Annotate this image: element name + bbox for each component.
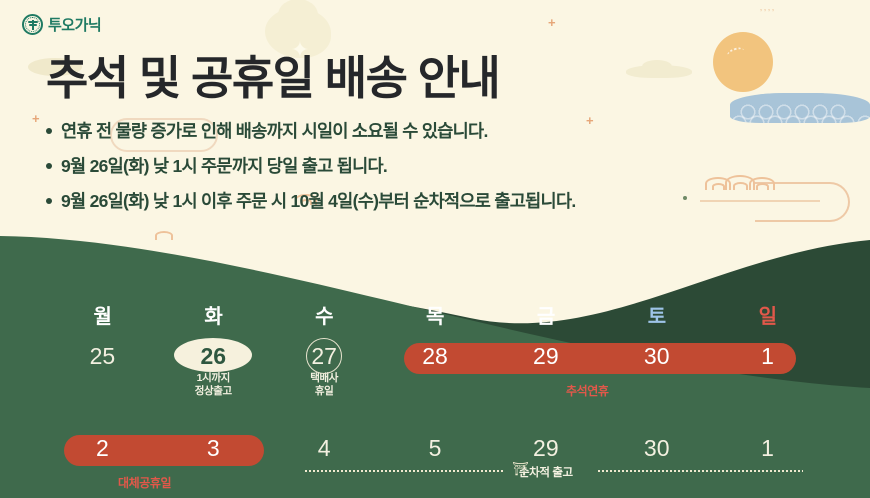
calendar-day-cell: 26 1시까지 정상출고 bbox=[158, 334, 269, 410]
day-number: 4 bbox=[318, 435, 331, 461]
day-number: 2 bbox=[96, 435, 109, 461]
wave-pattern-cloud-icon bbox=[730, 93, 870, 123]
day-note: 택배사 휴일 bbox=[310, 372, 338, 397]
dash-decor: ‚‚‚‚ bbox=[760, 2, 776, 12]
calendar-day-cell: 4 bbox=[269, 426, 380, 498]
brand-logo: 투오가닉 bbox=[22, 14, 101, 35]
calendar-day-cell: 27 택배사 휴일 bbox=[269, 334, 380, 410]
plus-sparkle-icon: + bbox=[586, 114, 594, 127]
day-header-fri: 금 bbox=[490, 300, 601, 335]
notice-item: 9월 26일(화) 낮 1시 이후 주문 시 10월 4일(수)부터 순차적으로… bbox=[46, 183, 576, 218]
calendar-day-cell: 3 bbox=[158, 426, 269, 498]
calendar-day-cell: 2 bbox=[47, 426, 158, 498]
day-number: 25 bbox=[90, 343, 116, 369]
calendar-week-1: 추석연휴 25 26 1시까지 정상출고 27 bbox=[0, 334, 870, 410]
notice-text: 9월 26일(화) 낮 1시 이후 주문 시 10월 4일(수)부터 순차적으로… bbox=[61, 188, 576, 213]
cloud-icon bbox=[626, 65, 692, 78]
notice-text: 연휴 전 물량 증가로 인해 배송까지 시일이 소요될 수 있습니다. bbox=[61, 118, 488, 143]
day-number: 26 bbox=[200, 343, 226, 369]
day-number: 29 bbox=[533, 435, 559, 461]
day-number: 3 bbox=[207, 435, 220, 461]
day-header-thu: 목 bbox=[380, 300, 491, 335]
bullet-dot-icon bbox=[46, 128, 52, 134]
page-title: 추석 및 공휴일 배송 안내 bbox=[46, 42, 499, 108]
bullet-dot-icon bbox=[46, 163, 52, 169]
notice-list: 연휴 전 물량 증가로 인해 배송까지 시일이 소요될 수 있습니다. 9월 2… bbox=[46, 113, 576, 218]
moon-texture-decor bbox=[726, 45, 747, 61]
plus-sparkle-icon: + bbox=[548, 16, 556, 29]
day-header-wed: 수 bbox=[269, 300, 380, 335]
day-number: 30 bbox=[644, 435, 670, 461]
day-header-tue: 화 bbox=[158, 300, 269, 335]
full-moon-icon bbox=[713, 32, 773, 92]
day-header-sat: 토 bbox=[601, 300, 712, 335]
day-number: 29 bbox=[533, 343, 559, 369]
plus-sparkle-icon: + bbox=[32, 112, 40, 125]
notice-item: 9월 26일(화) 낮 1시 주문까지 당일 출고 됩니다. bbox=[46, 148, 576, 183]
calendar-day-cell: 30 bbox=[601, 426, 712, 498]
calendar-day-cell: 5 bbox=[380, 426, 491, 498]
calendar-day-cell: 29 bbox=[490, 334, 601, 410]
tree-emblem-icon bbox=[22, 14, 43, 35]
day-number: 1 bbox=[761, 435, 774, 461]
day-header-mon: 월 bbox=[47, 300, 158, 335]
notice-item: 연휴 전 물량 증가로 인해 배송까지 시일이 소요될 수 있습니다. bbox=[46, 113, 576, 148]
calendar-day-cell: 1 bbox=[712, 334, 823, 410]
day-number: 28 bbox=[422, 343, 448, 369]
calendar-day-cell: 28 bbox=[380, 334, 491, 410]
calendar-week-2: 대체공휴일 ⛩ 2 3 4 5 29 순차적 bbox=[0, 426, 870, 498]
wave-pattern-overlay bbox=[730, 93, 870, 123]
straight-line-decor bbox=[700, 200, 820, 202]
calendar-day-cell: 29 순차적 출고 bbox=[490, 426, 601, 498]
calendar-day-cell: 30 bbox=[601, 334, 712, 410]
day-number: 1 bbox=[761, 343, 774, 369]
calendar-day-cell: 1 bbox=[712, 426, 823, 498]
notice-text: 9월 26일(화) 낮 1시 주문까지 당일 출고 됩니다. bbox=[61, 153, 387, 178]
day-number: 27 bbox=[311, 343, 337, 369]
day-note: 1시까지 정상출고 bbox=[195, 372, 232, 397]
calendar-day-cell: 25 bbox=[47, 334, 158, 410]
holiday-delivery-banner: ✦ + + + ‚‚‚‚ 투오가닉 추석 및 공휴일 배송 안내 연 bbox=[0, 0, 870, 498]
dot-decor bbox=[683, 196, 687, 200]
day-number: 5 bbox=[429, 435, 442, 461]
brand-name: 투오가닉 bbox=[48, 14, 101, 35]
day-number: 30 bbox=[644, 343, 670, 369]
bullet-dot-icon bbox=[46, 198, 52, 204]
calendar-day-headers: 월 화 수 목 금 토 일 bbox=[47, 300, 823, 335]
day-note: 순차적 출고 bbox=[519, 467, 573, 480]
day-header-sun: 일 bbox=[712, 300, 823, 335]
holiday-calendar: 월 화 수 목 금 토 일 추석연휴 25 26 1시까지 bbox=[0, 300, 870, 498]
